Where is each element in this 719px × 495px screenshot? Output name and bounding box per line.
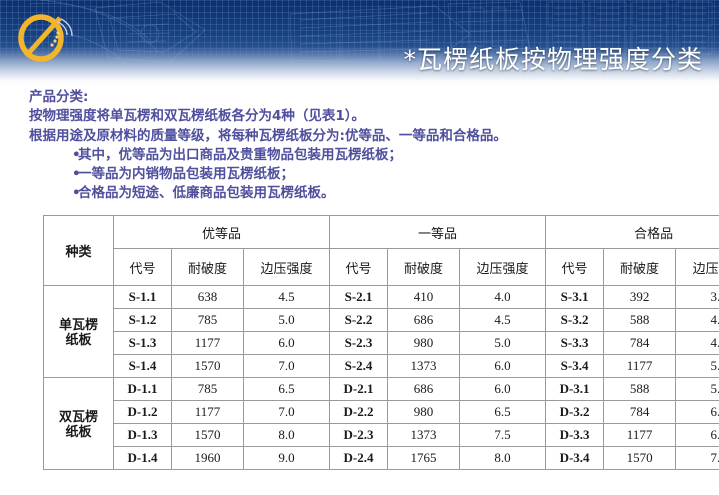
cell-code: D-1.4 <box>114 447 172 470</box>
intro-bullet-1: •其中，优等品为出口商品及贵重物品包装用瓦楞纸板； <box>29 146 709 165</box>
cell-burst: 588 <box>604 378 676 401</box>
table-header-subs: 代号 耐破度 边压强度 代号 耐破度 边压强度 代号 耐破度 边压强度 <box>44 249 719 286</box>
intro-line-2: 根据用途及原材料的质量等级，将每种瓦楞纸板分为:优等品、一等品和合格品。 <box>29 127 709 146</box>
company-logo <box>14 12 76 64</box>
cell-burst: 1765 <box>388 447 460 470</box>
cell-edge: 8.0 <box>460 447 546 470</box>
cell-burst: 410 <box>388 286 460 309</box>
slide-banner: *瓦楞纸板按物理强度分类 <box>0 0 719 88</box>
intro-bullet-1-label: 其中，优等品为出口商品及贵重物品包装用瓦楞纸板； <box>78 147 402 163</box>
header-edge-1: 边压强度 <box>244 249 330 286</box>
cell-burst: 784 <box>604 332 676 355</box>
intro-heading: 产品分类: <box>29 88 709 107</box>
cell-edge: 4.0 <box>460 286 546 309</box>
cell-burst: 1373 <box>388 424 460 447</box>
header-burst-3: 耐破度 <box>604 249 676 286</box>
cell-code: S-3.2 <box>546 309 604 332</box>
table-row: D-1.2 1177 7.0 D-2.2 980 6.5 D-3.2 784 6… <box>44 401 719 424</box>
cell-code: D-3.2 <box>546 401 604 424</box>
page-title: *瓦楞纸板按物理强度分类 <box>403 40 703 76</box>
cell-burst: 1177 <box>604 355 676 378</box>
cell-edge: 5.0 <box>244 309 330 332</box>
cell-burst: 392 <box>604 286 676 309</box>
header-burst-1: 耐破度 <box>172 249 244 286</box>
header-edge-2: 边压强度 <box>460 249 546 286</box>
cell-code: D-2.2 <box>330 401 388 424</box>
cell-edge: 6.0 <box>460 355 546 378</box>
header-grade-qualified: 合格品 <box>546 216 719 249</box>
cell-burst: 1570 <box>604 447 676 470</box>
table-row: S-1.4 1570 7.0 S-2.4 1373 6.0 S-3.4 1177… <box>44 355 719 378</box>
classification-table: 种类 优等品 一等品 合格品 代号 耐破度 边压强度 代号 耐破度 边压强度 代… <box>43 215 719 470</box>
intro-line-1: 按物理强度将单瓦楞和双瓦楞纸板各分为4种（见表1）。 <box>29 107 709 126</box>
cell-code: D-1.2 <box>114 401 172 424</box>
cell-edge: 7.5 <box>460 424 546 447</box>
cell-burst: 686 <box>388 378 460 401</box>
cell-code: S-2.3 <box>330 332 388 355</box>
cell-burst: 686 <box>388 309 460 332</box>
cell-edge: 6.5 <box>676 424 719 447</box>
cell-edge: 3.5 <box>676 286 719 309</box>
cell-burst: 1177 <box>172 401 244 424</box>
cell-burst: 784 <box>604 401 676 424</box>
intro-bullet-3: •合格品为短途、低廉商品包装用瓦楞纸板。 <box>29 184 709 203</box>
cell-edge: 6.0 <box>460 378 546 401</box>
table-row: S-1.2 785 5.0 S-2.2 686 4.5 S-3.2 588 4.… <box>44 309 719 332</box>
table-header-grades: 种类 优等品 一等品 合格品 <box>44 216 719 249</box>
cell-burst: 1373 <box>388 355 460 378</box>
cell-code: S-1.2 <box>114 309 172 332</box>
table-row: 双瓦楞 纸板 D-1.1 785 6.5 D-2.1 686 6.0 D-3.1… <box>44 378 719 401</box>
cell-code: S-3.1 <box>546 286 604 309</box>
cell-code: D-3.3 <box>546 424 604 447</box>
cell-burst: 1177 <box>172 332 244 355</box>
kind-line-1: 单瓦楞 <box>44 317 113 332</box>
cell-code: D-3.4 <box>546 447 604 470</box>
cell-code: S-1.3 <box>114 332 172 355</box>
header-edge-3: 边压强度 <box>676 249 719 286</box>
cell-burst: 638 <box>172 286 244 309</box>
classification-table-wrap: 种类 优等品 一等品 合格品 代号 耐破度 边压强度 代号 耐破度 边压强度 代… <box>43 215 691 470</box>
header-code-2: 代号 <box>330 249 388 286</box>
cell-edge: 5.0 <box>676 355 719 378</box>
cell-burst: 1960 <box>172 447 244 470</box>
cell-edge: 9.0 <box>244 447 330 470</box>
intro-bullet-3-label: 合格品为短途、低廉商品包装用瓦楞纸板。 <box>78 185 335 201</box>
cell-edge: 4.5 <box>676 332 719 355</box>
cell-edge: 7.0 <box>244 401 330 424</box>
cell-edge: 6.0 <box>676 401 719 424</box>
cell-code: D-2.1 <box>330 378 388 401</box>
cell-burst: 785 <box>172 309 244 332</box>
cell-code: S-3.4 <box>546 355 604 378</box>
cell-edge: 4.0 <box>676 309 719 332</box>
cell-edge: 6.5 <box>460 401 546 424</box>
header-kind: 种类 <box>44 216 114 286</box>
intro-bullet-2: •一等品为内销物品包装用瓦楞纸板； <box>29 165 709 184</box>
cell-edge: 4.5 <box>460 309 546 332</box>
row-group-kind-double: 双瓦楞 纸板 <box>44 378 114 470</box>
cell-burst: 1177 <box>604 424 676 447</box>
header-code-1: 代号 <box>114 249 172 286</box>
kind-line-2: 纸板 <box>44 424 113 439</box>
header-burst-2: 耐破度 <box>388 249 460 286</box>
cell-edge: 8.0 <box>244 424 330 447</box>
cell-burst: 1570 <box>172 355 244 378</box>
cell-edge: 5.0 <box>460 332 546 355</box>
kind-line-1: 双瓦楞 <box>44 409 113 424</box>
cell-burst: 980 <box>388 332 460 355</box>
cell-code: S-2.2 <box>330 309 388 332</box>
kind-line-2: 纸板 <box>44 332 113 347</box>
table-row: S-1.3 1177 6.0 S-2.3 980 5.0 S-3.3 784 4… <box>44 332 719 355</box>
cell-code: S-2.4 <box>330 355 388 378</box>
table-row: D-1.3 1570 8.0 D-2.3 1373 7.5 D-3.3 1177… <box>44 424 719 447</box>
cell-code: S-3.3 <box>546 332 604 355</box>
intro-text-block: 产品分类: 按物理强度将单瓦楞和双瓦楞纸板各分为4种（见表1）。 根据用途及原材… <box>29 88 709 204</box>
cell-edge: 7.0 <box>676 447 719 470</box>
header-grade-first: 一等品 <box>330 216 546 249</box>
cell-burst: 785 <box>172 378 244 401</box>
cell-burst: 980 <box>388 401 460 424</box>
cell-code: S-1.4 <box>114 355 172 378</box>
cell-burst: 588 <box>604 309 676 332</box>
cell-edge: 6.5 <box>244 378 330 401</box>
header-code-3: 代号 <box>546 249 604 286</box>
row-group-kind-single: 单瓦楞 纸板 <box>44 286 114 378</box>
cell-code: D-2.4 <box>330 447 388 470</box>
cell-code: S-2.1 <box>330 286 388 309</box>
cell-code: D-3.1 <box>546 378 604 401</box>
cell-edge: 4.5 <box>244 286 330 309</box>
table-row: D-1.4 1960 9.0 D-2.4 1765 8.0 D-3.4 1570… <box>44 447 719 470</box>
cell-code: D-2.3 <box>330 424 388 447</box>
cell-edge: 7.0 <box>244 355 330 378</box>
cell-code: D-1.1 <box>114 378 172 401</box>
intro-bullet-2-label: 一等品为内销物品包装用瓦楞纸板； <box>78 166 294 182</box>
cell-code: D-1.3 <box>114 424 172 447</box>
cell-edge: 5.5 <box>676 378 719 401</box>
cell-edge: 6.0 <box>244 332 330 355</box>
cell-burst: 1570 <box>172 424 244 447</box>
table-row: 单瓦楞 纸板 S-1.1 638 4.5 S-2.1 410 4.0 S-3.1… <box>44 286 719 309</box>
cell-code: S-1.1 <box>114 286 172 309</box>
header-grade-premium: 优等品 <box>114 216 330 249</box>
